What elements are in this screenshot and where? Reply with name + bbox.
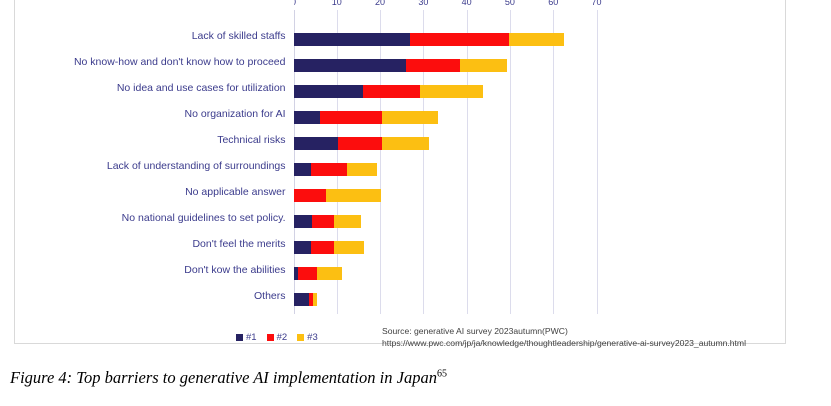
legend-item-series-1: #1 (236, 332, 257, 343)
category-label: Lack of understanding of surroundings (107, 160, 286, 172)
legend-item-series-3: #3 (297, 332, 318, 343)
category-label: Lack of skilled staffs (192, 30, 286, 42)
bar-segment-series-2 (410, 33, 509, 46)
source-note: Source: generative AI survey 2023autumn(… (382, 326, 746, 349)
bar-segment-series-3 (460, 59, 507, 72)
x-tick-label-30: 30 (418, 0, 428, 7)
bar-segment-series-2 (311, 241, 334, 254)
bar-segment-series-1 (294, 111, 320, 124)
stacked-bar (294, 59, 508, 72)
bar-segment-series-1 (294, 215, 312, 228)
bar-row: Don't kow the abilities (294, 260, 597, 286)
legend-swatch-icon (267, 334, 274, 341)
x-tick-label-10: 10 (332, 0, 342, 7)
caption-footnote-marker: 65 (437, 369, 447, 380)
bar-segment-series-2 (312, 215, 335, 228)
bar-row: No know-how and don't know how to procee… (294, 52, 597, 78)
x-tick-label-50: 50 (505, 0, 515, 7)
figure-caption: Figure 4: Top barriers to generative AI … (10, 368, 447, 388)
x-tick-label-40: 40 (462, 0, 472, 7)
bar-segment-series-2 (320, 111, 382, 124)
bar-row: No national guidelines to set policy. (294, 208, 597, 234)
stacked-bar (294, 111, 439, 124)
category-label: No applicable answer (185, 186, 285, 198)
bar-row: Don't feel the merits (294, 234, 597, 260)
bar-segment-series-3 (509, 33, 564, 46)
bar-segment-series-3 (382, 137, 429, 150)
bar-segment-series-3 (334, 215, 361, 228)
category-label: Don't kow the abilities (184, 264, 285, 276)
category-label: Don't feel the merits (192, 238, 285, 250)
x-tick-label-0: 0 (294, 0, 297, 7)
bar-segment-series-2 (294, 189, 326, 202)
bar-segment-series-3 (334, 241, 364, 254)
bar-row: No organization for AI (294, 104, 597, 130)
stacked-bar (294, 85, 484, 98)
bar-segment-series-2 (338, 137, 383, 150)
stacked-bar (294, 189, 381, 202)
bar-segment-series-1 (294, 137, 338, 150)
bar-segment-series-3 (313, 293, 316, 306)
bar-segment-series-1 (294, 241, 311, 254)
plot-area: Lack of skilled staffsNo know-how and do… (294, 22, 597, 314)
bar-row: No applicable answer (294, 182, 597, 208)
x-axis-tick-labels: 010203040506070 (294, 0, 614, 19)
x-tick-label-60: 60 (548, 0, 558, 7)
bar-segment-series-1 (294, 85, 363, 98)
bar-segment-series-1 (294, 293, 310, 306)
category-label: Technical risks (217, 134, 285, 146)
bar-segment-series-2 (311, 163, 347, 176)
bar-segment-series-3 (347, 163, 377, 176)
bar-row: Others (294, 286, 597, 312)
x-tick-label-70: 70 (591, 0, 601, 7)
bar-row: Lack of understanding of surroundings (294, 156, 597, 182)
stacked-bar (294, 267, 342, 280)
caption-text: Figure 4: Top barriers to generative AI … (10, 368, 437, 387)
x-tick-label-20: 20 (375, 0, 385, 7)
bar-segment-series-3 (420, 85, 483, 98)
source-line-2: https://www.pwc.com/jp/ja/knowledge/thou… (382, 338, 746, 350)
category-label: No organization for AI (185, 108, 286, 120)
stacked-bar (294, 215, 362, 228)
legend-item-series-2: #2 (267, 332, 288, 343)
category-label: No know-how and don't know how to procee… (74, 56, 286, 68)
bar-segment-series-1 (294, 33, 411, 46)
bar-segment-series-3 (317, 267, 342, 280)
source-line-1: Source: generative AI survey 2023autumn(… (382, 326, 746, 338)
stacked-bar (294, 137, 430, 150)
stacked-bar (294, 163, 378, 176)
bar-row: Lack of skilled staffs (294, 26, 597, 52)
gridline-70 (597, 10, 598, 314)
bar-segment-series-2 (298, 267, 317, 280)
bar-segment-series-1 (294, 59, 407, 72)
bar-segment-series-2 (406, 59, 460, 72)
bar-row: Technical risks (294, 130, 597, 156)
bar-segment-series-3 (326, 189, 381, 202)
category-label: No national guidelines to set policy. (122, 212, 286, 224)
bar-segment-series-2 (363, 85, 421, 98)
category-label: No idea and use cases for utilization (117, 82, 286, 94)
legend-swatch-icon (236, 334, 243, 341)
stacked-bar (294, 33, 565, 46)
legend-swatch-icon (297, 334, 304, 341)
bar-segment-series-3 (382, 111, 438, 124)
bar-row: No idea and use cases for utilization (294, 78, 597, 104)
stacked-bar (294, 293, 317, 306)
legend-label: #1 (246, 332, 257, 343)
category-label: Others (254, 290, 286, 302)
chart-legend: #1#2#3 (236, 332, 318, 343)
bar-segment-series-1 (294, 163, 311, 176)
legend-label: #3 (307, 332, 318, 343)
legend-label: #2 (277, 332, 288, 343)
stacked-bar (294, 241, 365, 254)
figure-image: 010203040506070 Lack of skilled staffsNo… (0, 0, 831, 352)
